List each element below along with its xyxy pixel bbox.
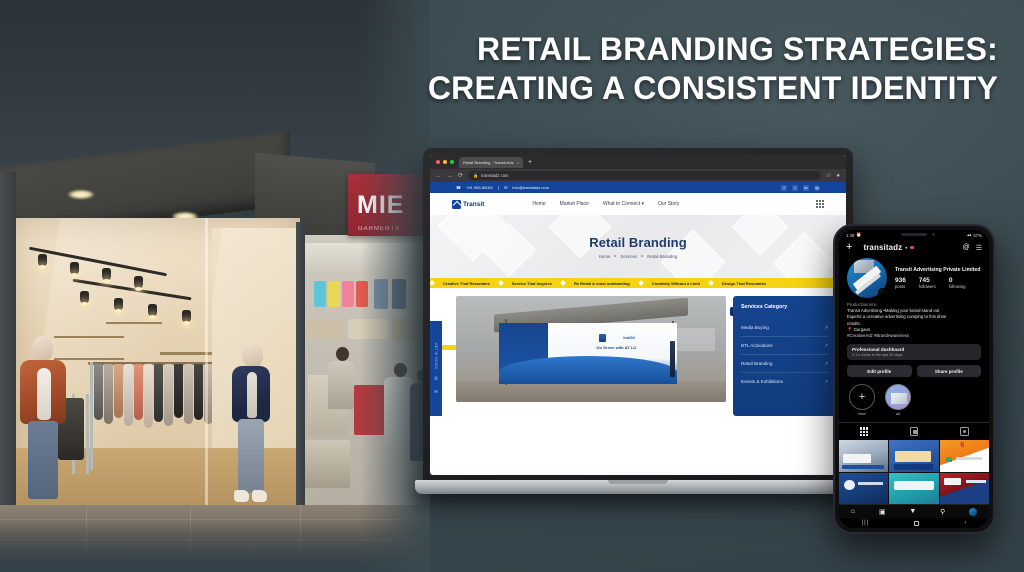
ticker-item: Service That Inspires — [503, 281, 561, 286]
phone-mockup: 1:39 ⏰ ▴▴ 67% + transitadz ▾ @ ☰ — [833, 224, 995, 534]
company-name: Transit Advertising Private Limited — [895, 267, 981, 273]
browser-tab-strip: Retail Branding - Transit Adz × + — [430, 155, 846, 169]
laptop-mockup: Retail Branding - Transit Adz × + ← → ⟳ … — [415, 148, 861, 500]
stat-posts: 936 posts — [895, 277, 906, 289]
service-item-retail-branding[interactable]: Retail Branding ↗ — [741, 355, 828, 373]
arrow-icon: ↗ — [824, 343, 828, 349]
chevron-down-icon: ▾ — [905, 245, 907, 250]
lock-icon: 🔒 — [473, 173, 478, 179]
edit-profile-button[interactable]: Edit profile — [847, 365, 912, 377]
phone-icon[interactable]: ✆ — [434, 376, 438, 382]
android-system-nav: ||| ‹ — [839, 518, 989, 528]
marquee-ticker: Creative That Resonates Service That Ins… — [430, 278, 846, 288]
profile-summary: + Transit Advertising Private Limited 93… — [839, 255, 989, 298]
arrow-icon: ↗ — [824, 325, 828, 331]
tab-reels[interactable] — [889, 423, 939, 440]
ticker-item: Creative That Resonates — [434, 281, 499, 286]
ticker-item: Creativity Without a Limit — [643, 281, 709, 286]
kiosk-headline: Go Green with AT LO — [596, 345, 636, 350]
forward-icon[interactable]: → — [447, 173, 453, 179]
site-topbar: ☎ +91 906-80001 | ✉ info@transitadz.com … — [430, 182, 846, 193]
dashboard-title: Professional dashboard — [852, 347, 976, 352]
profile-action-buttons: Edit profile Share profile — [847, 365, 981, 377]
maximize-window-dot[interactable] — [450, 160, 454, 164]
twitter-icon[interactable]: t — [792, 185, 798, 191]
avatar[interactable]: + — [847, 258, 887, 298]
screenshot-stage: MIE GARMENTS RETAIL BRANDING STRATEGIES:… — [0, 0, 1024, 572]
mannequin-head — [32, 336, 53, 362]
laptop-screen: Retail Branding - Transit Adz × + ← → ⟳ … — [430, 155, 846, 475]
highlight-item[interactable]: ad — [885, 384, 911, 416]
dashboard-subtitle: 3.1 k views in the last 30 days — [852, 353, 976, 357]
kiosk-photo: IndOil Go Green with AT LO — [456, 296, 726, 402]
breadcrumb: Home Services Retail Branding — [599, 254, 678, 259]
logo-mark-icon — [452, 200, 461, 209]
browser-tab[interactable]: Retail Branding - Transit Adz × — [459, 157, 523, 168]
signal-icon: ▴▴ — [967, 232, 971, 238]
highlight-cover — [885, 384, 911, 410]
close-window-dot[interactable] — [436, 160, 440, 164]
status-time: 1:39 — [846, 233, 854, 238]
add-story-icon[interactable]: + — [878, 288, 887, 297]
service-item-btl-activations[interactable]: BTL Activations ↗ — [741, 337, 828, 355]
profile-avatar[interactable] — [969, 508, 977, 516]
back-icon[interactable]: ← — [436, 173, 442, 179]
page-title: RETAIL BRANDING STRATEGIES: CREATING A C… — [398, 30, 998, 108]
grid-post[interactable] — [839, 440, 888, 471]
share-profile-button[interactable]: Share profile — [917, 365, 982, 377]
highlight-new[interactable]: + New — [849, 384, 875, 416]
arrow-icon: ↗ — [824, 361, 828, 367]
profile-username[interactable]: transitadz ▾ — [863, 243, 913, 252]
site-nav-links: Home Market Place What to Connect ▾ Our … — [532, 201, 679, 207]
reels-icon[interactable]: ▣ — [879, 508, 886, 516]
profile-icon[interactable]: ● — [836, 173, 840, 179]
laptop-notch — [608, 480, 668, 484]
linkedin-icon[interactable]: in — [803, 185, 809, 191]
breadcrumb-current: Retail Branding — [647, 254, 677, 259]
story-highlights: + New ad — [839, 377, 989, 416]
grid-post[interactable]: 6 — [940, 440, 989, 471]
bookmark-star-icon[interactable]: ☆ — [826, 173, 831, 179]
retail-storefront-photo: MIE GARMENTS — [0, 0, 430, 572]
site-content: GET IN TOUCH ✆ ✉ — [430, 288, 846, 416]
back-icon[interactable]: ‹ — [964, 520, 966, 526]
highlight-label: ad — [885, 412, 911, 416]
search-icon[interactable]: ⚲ — [940, 508, 945, 516]
topbar-email[interactable]: info@transitadz.com — [512, 185, 549, 190]
mail-icon[interactable]: ✉ — [434, 389, 438, 395]
site-hero: Retail Branding Home Services Retail Bra… — [430, 215, 846, 278]
side-label: GET IN TOUCH — [434, 343, 438, 369]
minimize-window-dot[interactable] — [443, 160, 447, 164]
recents-icon[interactable]: ||| — [862, 520, 870, 526]
nav-item-market-place[interactable]: Market Place — [560, 201, 589, 207]
apps-grid-icon[interactable] — [816, 200, 824, 208]
reels-icon — [910, 427, 918, 436]
kiosk-brand-text: IndOil — [623, 335, 634, 340]
url-input[interactable]: 🔒 transitadz.com — [468, 171, 821, 180]
grid-post[interactable] — [839, 473, 888, 504]
instagram-icon[interactable]: ig — [814, 185, 820, 191]
new-tab-button[interactable]: + — [528, 159, 532, 166]
headline-line-1: RETAIL BRANDING STRATEGIES: — [398, 30, 998, 69]
brand-name: Transit — [463, 201, 484, 208]
service-item-media-buying[interactable]: Media Buying ↗ — [741, 319, 828, 337]
phone-screen: 1:39 ⏰ ▴▴ 67% + transitadz ▾ @ ☰ — [839, 230, 989, 528]
services-panel-title: Services Category — [741, 304, 828, 310]
professional-dashboard-card[interactable]: Professional dashboard 3.1 k views in th… — [847, 344, 981, 360]
tagged-icon — [960, 427, 969, 436]
phone-icon: ☎ — [456, 185, 461, 190]
close-icon[interactable]: × — [517, 160, 519, 165]
browser-tab-title: Retail Branding - Transit Adz — [463, 160, 514, 165]
add-highlight-icon: + — [849, 384, 875, 410]
ticker-item: Re Retail & most outstanding — [565, 281, 639, 286]
stat-following[interactable]: 0 following — [949, 277, 966, 289]
shop-window-right — [212, 228, 298, 518]
tab-tagged[interactable] — [939, 423, 989, 440]
post-grid: 6 — [839, 440, 989, 504]
profile-stats: 936 posts 745 followers 0 following — [895, 277, 981, 289]
window-controls[interactable] — [436, 160, 454, 164]
site-side-contact-bar: GET IN TOUCH ✆ ✉ — [430, 321, 442, 416]
site-logo[interactable]: Transit — [452, 200, 484, 209]
services-category-panel: Services Category Media Buying ↗ BTL Act… — [733, 296, 836, 416]
threads-icon[interactable]: @ — [963, 244, 970, 251]
add-post-icon[interactable]: + — [846, 242, 852, 253]
nav-item-our-story[interactable]: Our Story — [658, 201, 679, 207]
notification-dot — [910, 246, 914, 250]
kiosk-brand-logo — [599, 334, 606, 342]
home-icon[interactable]: ⌂ — [851, 508, 855, 515]
tab-grid[interactable] — [839, 423, 889, 440]
profile-bio: Product/service Transit Advertising •Mak… — [839, 298, 989, 339]
ticker-item: Design That Resonates — [713, 281, 775, 286]
phone-notch — [901, 233, 927, 236]
mail-icon: ✉ — [504, 185, 507, 190]
topbar-phone[interactable]: +91 906-80001 — [466, 185, 493, 190]
chevron-down-icon: ▾ — [641, 201, 644, 207]
highlight-label: New — [849, 412, 875, 416]
service-item-events-exhibitions[interactable]: Events & Exhibitions ↗ — [741, 373, 828, 390]
menu-icon[interactable]: ☰ — [976, 244, 982, 252]
grid-post[interactable] — [889, 473, 938, 504]
location-pin-icon: 📍 — [847, 327, 852, 332]
grid-icon — [860, 427, 869, 436]
shop-icon[interactable]: ▼ — [909, 508, 916, 515]
phone-camera — [932, 233, 935, 236]
site-navbar: Transit Home Market Place What to Connec… — [430, 193, 846, 215]
laptop-lid: Retail Branding - Transit Adz × + ← → ⟳ … — [423, 148, 853, 486]
breadcrumb-services[interactable]: Services — [620, 254, 637, 259]
battery-level: 67% — [973, 233, 982, 238]
grid-post[interactable] — [889, 440, 938, 471]
url-text: transitadz.com — [481, 173, 508, 178]
grid-post[interactable] — [940, 473, 989, 504]
laptop-base — [415, 480, 861, 494]
headline-line-2: CREATING A CONSISTENT IDENTITY — [398, 69, 998, 108]
profile-tabs — [839, 422, 989, 440]
nav-item-home[interactable]: Home — [532, 201, 545, 207]
instagram-bottom-nav: ⌂ ▣ ▼ ⚲ — [839, 504, 989, 518]
arrow-icon: ↗ — [824, 379, 828, 385]
nav-item-what-to-connect[interactable]: What to Connect ▾ — [603, 201, 644, 207]
facebook-icon[interactable]: f — [781, 185, 787, 191]
instagram-header: + transitadz ▾ @ ☰ — [839, 240, 989, 255]
browser-address-bar: ← → ⟳ 🔒 transitadz.com ☆ ● — [430, 169, 846, 182]
alarm-icon: ⏰ — [856, 232, 861, 238]
reload-icon[interactable]: ⟳ — [458, 173, 463, 179]
stat-followers[interactable]: 745 followers — [919, 277, 936, 289]
hero-title: Retail Branding — [589, 235, 687, 250]
phone-status-bar: 1:39 ⏰ ▴▴ 67% — [839, 230, 989, 240]
breadcrumb-home[interactable]: Home — [599, 254, 611, 259]
home-icon[interactable] — [914, 521, 919, 526]
bio-hashtags[interactable]: #CreativeAdz #BrandAwareness — [847, 333, 981, 339]
